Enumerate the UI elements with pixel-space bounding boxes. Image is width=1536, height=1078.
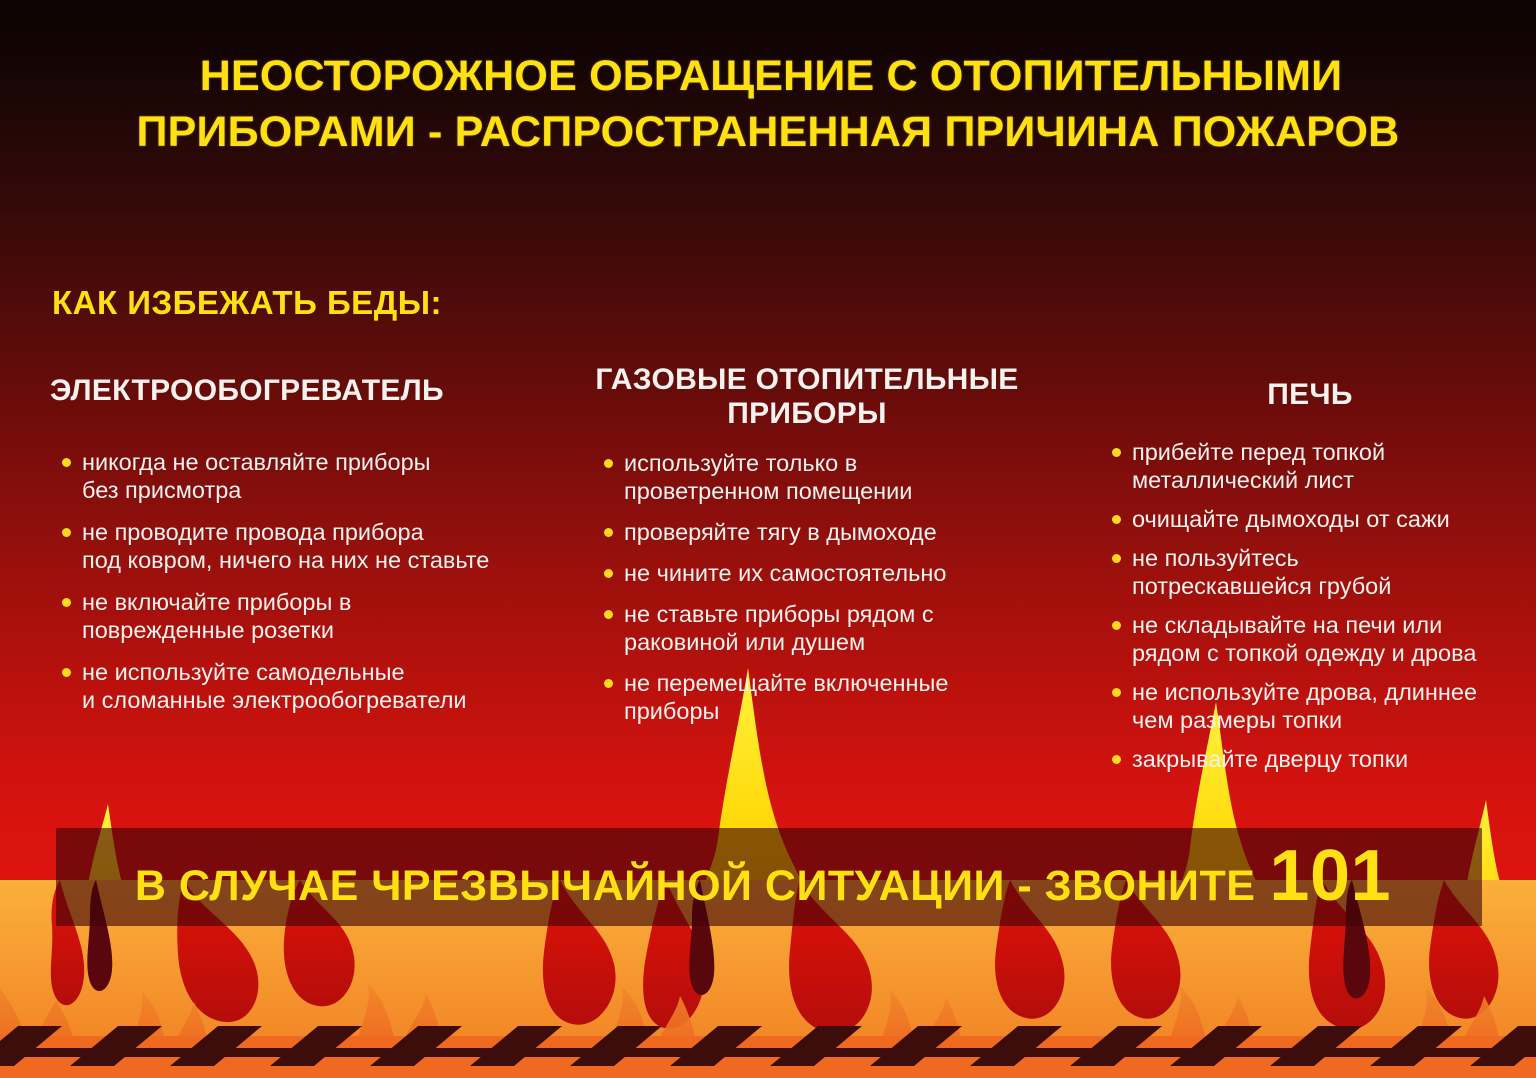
emergency-call-banner: В СЛУЧАЕ ЧРЕЗВЫЧАЙНОЙ СИТУАЦИИ - ЗВОНИТЕ… — [56, 828, 1482, 926]
list-item: прибейте перед топкой металлический лист — [1100, 438, 1520, 494]
list-item: проверяйте тягу в дымоходе — [592, 518, 1022, 546]
list-item: не пользуйтесь потрескавшейся грубой — [1100, 544, 1520, 600]
page-title: НЕОСТОРОЖНОЕ ОБРАЩЕНИЕ С ОТОПИТЕЛЬНЫМИ П… — [0, 48, 1536, 160]
column-gas-heating-appliances: ГАЗОВЫЕ ОТОПИТЕЛЬНЫЕ ПРИБОРЫ используйте… — [592, 363, 1022, 738]
list-item: очищайте дымоходы от сажи — [1100, 505, 1520, 533]
column-heading-stove: ПЕЧЬ — [1100, 378, 1520, 412]
column-stove: ПЕЧЬ прибейте перед топкой металлический… — [1100, 378, 1520, 784]
list-item: не проводите провода прибора под ковром,… — [50, 518, 570, 574]
list-item: не ставьте приборы рядом с раковиной или… — [592, 600, 1022, 656]
list-item: не чините их самостоятельно — [592, 559, 1022, 587]
list-item: не перемещайте включенные приборы — [592, 669, 1022, 725]
list-item: не складывайте на печи или рядом с топко… — [1100, 611, 1520, 667]
list-item: используйте только в проветренном помеще… — [592, 449, 1022, 505]
subtitle-how-to-avoid-trouble: КАК ИЗБЕЖАТЬ БЕДЫ: — [52, 284, 442, 322]
fire-safety-poster: НЕОСТОРОЖНОЕ ОБРАЩЕНИЕ С ОТОПИТЕЛЬНЫМИ П… — [0, 0, 1536, 1078]
bullet-list-stove: прибейте перед топкой металлический лист… — [1100, 438, 1520, 773]
bullet-list-electric-heater: никогда не оставляйте приборы без присмо… — [50, 448, 570, 714]
list-item: не включайте приборы в поврежденные розе… — [50, 588, 570, 644]
list-item: не используйте дрова, длиннее чем размер… — [1100, 678, 1520, 734]
column-heading-gas-heating-appliances: ГАЗОВЫЕ ОТОПИТЕЛЬНЫЕ ПРИБОРЫ — [592, 363, 1022, 431]
bullet-list-gas-heating-appliances: используйте только в проветренном помеще… — [592, 449, 1022, 725]
column-heading-electric-heater: ЭЛЕКТРООБОГРЕВАТЕЛЬ — [50, 374, 570, 408]
list-item: закрывайте дверцу топки — [1100, 745, 1520, 773]
title-line-2: ПРИБОРАМИ - РАСПРОСТРАНЕННАЯ ПРИЧИНА ПОЖ… — [0, 104, 1536, 160]
column-electric-heater: ЭЛЕКТРООБОГРЕВАТЕЛЬ никогда не оставляйт… — [50, 374, 570, 728]
emergency-phone-number: 101 — [1269, 844, 1391, 909]
list-item: не используйте самодельные и сломанные э… — [50, 658, 570, 714]
title-line-1: НЕОСТОРОЖНОЕ ОБРАЩЕНИЕ С ОТОПИТЕЛЬНЫМИ — [0, 48, 1536, 104]
emergency-banner-label: В СЛУЧАЕ ЧРЕЗВЫЧАЙНОЙ СИТУАЦИИ - ЗВОНИТЕ — [135, 862, 1256, 911]
list-item: никогда не оставляйте приборы без присмо… — [50, 448, 570, 504]
emergency-banner-text: В СЛУЧАЕ ЧРЕЗВЫЧАЙНОЙ СИТУАЦИИ - ЗВОНИТЕ… — [135, 844, 1391, 911]
